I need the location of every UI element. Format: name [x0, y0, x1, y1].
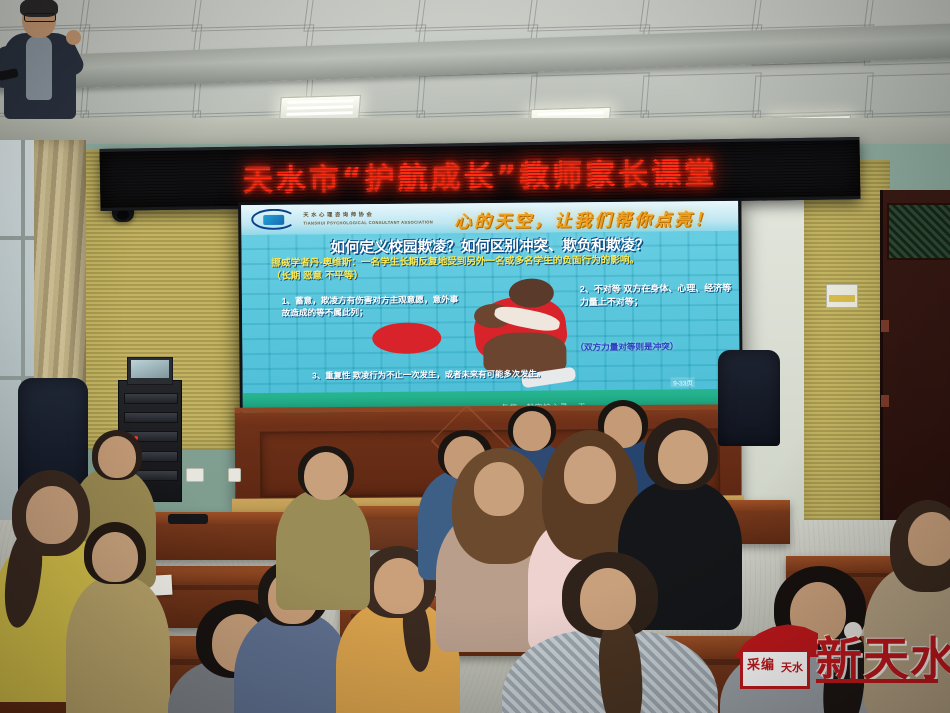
- slide-body: 如何定义校园欺凌？如何区别冲突、欺负和欺凌？ 挪威学者丹-奥维斯：一名学生长期反…: [241, 231, 740, 418]
- watermark-emblem-sub: 天水: [781, 659, 803, 675]
- control-laptop[interactable]: [127, 357, 173, 385]
- watermark-emblem-label: 采编: [747, 654, 775, 673]
- wall-socket-2: [228, 468, 241, 482]
- wall-socket-1: [186, 468, 204, 482]
- smartphone-2[interactable]: [168, 514, 208, 524]
- watermark-underline: [816, 679, 938, 683]
- leather-chair-right: [718, 350, 780, 446]
- hall-door[interactable]: [880, 190, 950, 520]
- slide-slogan: 心的天空，让我们帮你点亮！: [440, 205, 728, 233]
- association-logo-icon: [251, 209, 296, 231]
- presenter-shirt: [26, 36, 52, 100]
- watermark-emblem-icon: 采编 天水: [732, 621, 818, 685]
- led-banner-text: 天水市“护航成长”教师家长课堂: [242, 148, 717, 199]
- association-name-cn: 天水心理咨询师协会: [303, 210, 374, 219]
- slide-point-left: 1、蓄意，欺凌方有伤害对方主观意愿，意外事故造成的等不属此列；: [282, 293, 461, 319]
- slide-point-right-note: （双方力量对等则是冲突）: [575, 340, 739, 353]
- door-transom-grille: [887, 203, 950, 260]
- wall-panel-right: [800, 160, 890, 560]
- slide-point-right: 2、不对等 双方在身体、心理、经济等力量上不对等；: [580, 282, 734, 310]
- watermark-xin-tianshui: 采编 天水 新天水: [732, 617, 942, 695]
- presenter-glasses-icon: [24, 13, 56, 22]
- photograph-lecture-hall: 天水市“护航成长”教师家长课堂 天水心理咨询师协会 TIANSHUI PSYCH…: [0, 0, 950, 713]
- projection-screen: 天水心理咨询师协会 TIANSHUI PSYCHOLOGICAL CONSULT…: [238, 198, 743, 420]
- electrical-box: [826, 284, 858, 308]
- slide-page-marker: 9-33页: [671, 378, 695, 388]
- presenter-hand: [66, 30, 81, 45]
- slide-point-bottom: 3、重复性 欺凌行为不止一次发生，或者未来有可能多次发生。: [312, 367, 561, 381]
